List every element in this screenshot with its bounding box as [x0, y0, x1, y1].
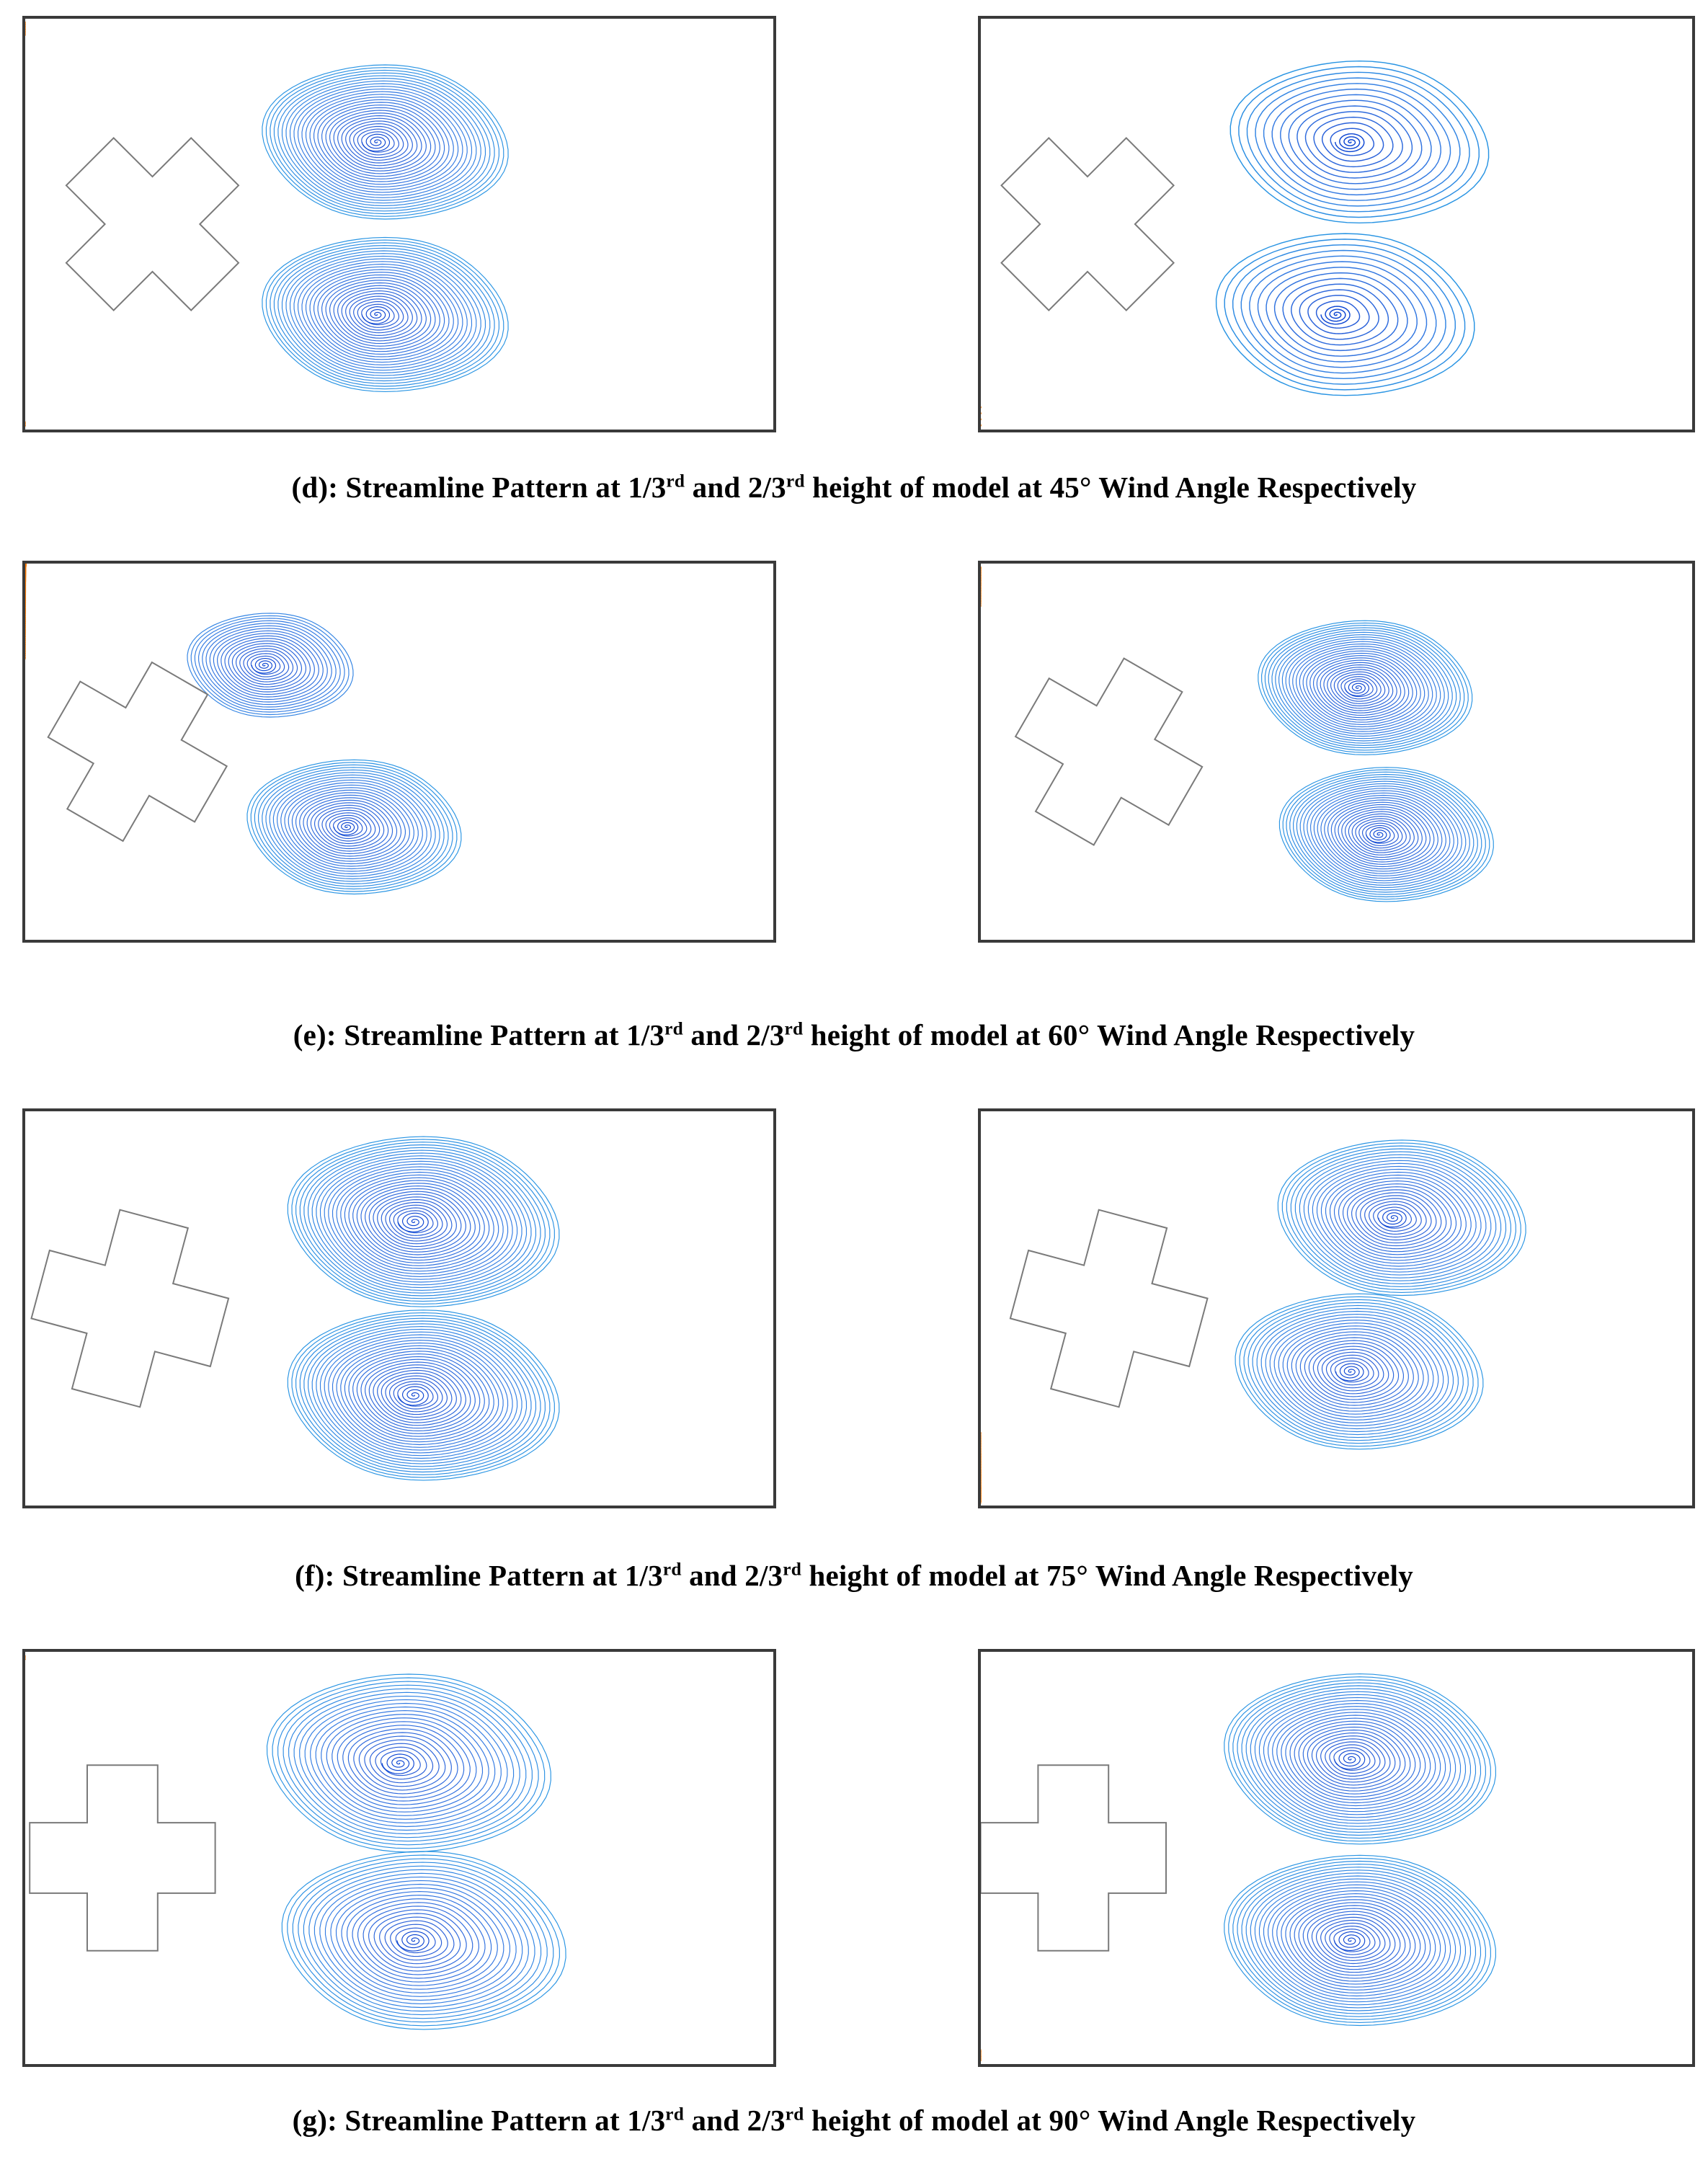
recirculation-loop [1273, 1887, 1441, 1993]
caption-f-label: (f) [295, 1559, 325, 1592]
streamline [25, 1652, 26, 1658]
recirculation-loop [1266, 267, 1417, 362]
recirculation-loop [1317, 793, 1450, 876]
vortex-core-spiral [252, 659, 275, 673]
building-cross-section [30, 1765, 215, 1950]
panel-e-right [978, 561, 1695, 943]
recirculation-loop [1299, 1724, 1410, 1794]
caption-f-mid: and 2/3 [682, 1559, 783, 1592]
vortex-core-spiral [1335, 1751, 1365, 1769]
vortex-core-spiral [1335, 134, 1364, 152]
caption-g-sup1: rd [665, 2104, 684, 2124]
recirculation-loop [1338, 674, 1381, 701]
recirculation-loop [281, 783, 423, 871]
recirculation-loop [321, 1711, 489, 1816]
vortex-core-spiral [397, 1931, 429, 1951]
caption-g-text: Streamline Pattern at 1/3 [344, 2104, 665, 2137]
recirculation-loop [365, 1188, 471, 1255]
recirculation-loop [1356, 1193, 1436, 1243]
building-cross-section [1002, 138, 1174, 310]
recirculation-loop [369, 1910, 466, 1971]
vortex-core-spiral [1321, 306, 1350, 324]
recirculation-loop [346, 121, 413, 163]
recirculation-loop [232, 644, 301, 687]
recirculation-loop [381, 1200, 452, 1244]
recirculation-loop [357, 1183, 479, 1260]
recirculation-loop [390, 1205, 442, 1238]
recirculation-loop [1317, 1917, 1390, 1963]
panel-g-left [22, 1649, 776, 2067]
recirculation-loop [1317, 1166, 1482, 1269]
recirculation-loop [1317, 660, 1405, 715]
recirculation-loop [357, 1356, 479, 1433]
building-cross-section [1015, 659, 1202, 845]
recirculation-loop [330, 110, 431, 174]
recirculation-loop [342, 291, 417, 339]
caption-d-tail: height of model at 45° Wind Angle Respec… [805, 471, 1417, 504]
recirculation-loop [331, 1885, 510, 1997]
caption-f-text: Streamline Pattern at 1/3 [342, 1559, 663, 1592]
vortex-core-spiral [362, 307, 389, 324]
panel-g-right [978, 1649, 1695, 2067]
streamline-group [288, 1137, 559, 1480]
streamline-group [25, 19, 508, 430]
vortex-core-spiral [398, 1387, 428, 1405]
caption-e-mid: and 2/3 [683, 1018, 785, 1051]
panel-f-left [22, 1108, 776, 1508]
streamline-canvas [25, 19, 773, 430]
recirculation-loop [306, 94, 458, 190]
building-cross-section [48, 662, 227, 841]
recirculation-loop [326, 813, 371, 841]
recirculation-loop [244, 651, 289, 679]
recirculation-loop [1314, 117, 1393, 167]
streamline-canvas [981, 1111, 1692, 1506]
recirculation-loop [391, 1924, 442, 1956]
recirculation-loop [1283, 1326, 1428, 1418]
recirculation-loop [1348, 814, 1414, 855]
caption-g-label: (g) [293, 2104, 327, 2137]
building-cross-section [66, 138, 239, 310]
recirculation-loop [1313, 1346, 1393, 1397]
streamline-canvas [981, 564, 1692, 940]
streamline-canvas [25, 1652, 773, 2064]
building-cross-section [32, 1210, 229, 1408]
streamline [981, 2060, 982, 2064]
vortex-core-spiral [1345, 681, 1369, 695]
caption-e-tail: height of model at 60° Wind Angle Respec… [803, 1018, 1415, 1051]
recirculation-loop [365, 1362, 471, 1428]
recirculation-loop [1312, 1733, 1395, 1785]
recirculation-loop [221, 636, 315, 694]
recirculation-loop [1348, 1187, 1446, 1249]
vortex-core-spiral [1379, 1210, 1406, 1227]
streamline [981, 424, 982, 430]
caption-d-mid: and 2/3 [685, 471, 786, 504]
caption-g-tail: height of model at 90° Wind Angle Respec… [804, 2104, 1416, 2137]
caption-g-mid: and 2/3 [684, 2104, 786, 2137]
recirculation-loop [1241, 251, 1446, 379]
recirculation-loop [1300, 1338, 1408, 1405]
recirculation-loop [381, 1373, 452, 1417]
recirculation-loop [1299, 1906, 1410, 1975]
vortex-core-spiral [1335, 1932, 1365, 1951]
caption-e-sup1: rd [664, 1018, 683, 1039]
recirculation-loop [1325, 1742, 1380, 1777]
streamline-canvas [25, 564, 773, 940]
recirculation-loop [1317, 1736, 1390, 1782]
recirculation-loop [378, 1197, 457, 1247]
recirculation-loop [1291, 284, 1389, 344]
recirculation-loop [315, 805, 384, 848]
caption-d-label: (d) [292, 471, 329, 504]
recirculation-loop [1325, 1924, 1380, 1958]
streamline [25, 19, 26, 23]
recirculation-loop [1250, 256, 1436, 373]
caption-e: (e): Streamline Pattern at 1/3rd and 2/3… [0, 1018, 1708, 1052]
streamline [981, 1501, 982, 1506]
recirculation-loop [1369, 1201, 1422, 1234]
recirculation-loop [1268, 1885, 1446, 1996]
figure-sheet: (d): Streamline Pattern at 1/3rd and 2/3… [0, 0, 1708, 2170]
vortex-core-spiral [382, 1754, 414, 1774]
recirculation-loop [1233, 245, 1456, 384]
streamline-canvas [25, 1111, 773, 1506]
recirculation-loop [1255, 78, 1460, 206]
streamline [25, 425, 26, 430]
recirculation-loop [1306, 112, 1403, 172]
vortex-core-spiral [1336, 1364, 1364, 1381]
caption-e-text: Streamline Pattern at 1/3 [344, 1018, 664, 1051]
recirculation-loop [1312, 1914, 1395, 1966]
recirculation-loop [385, 1921, 448, 1960]
recirculation-loop [1281, 94, 1431, 189]
recirculation-loop [1264, 84, 1451, 200]
recirculation-loop [378, 1370, 457, 1420]
recirculation-loop [1326, 1173, 1472, 1263]
recirculation-loop [316, 1707, 495, 1820]
caption-d-sup1: rd [666, 471, 685, 491]
vortex-core-spiral [362, 134, 389, 151]
building-cross-section [981, 1765, 1166, 1950]
caption-f-tail: height of model at 75° Wind Angle Respec… [801, 1559, 1413, 1592]
vortex-core-spiral [1366, 828, 1390, 842]
recirculation-loop [305, 1699, 507, 1826]
panel-d-left [22, 16, 776, 432]
recirculation-loop [1268, 1704, 1446, 1815]
streamline [25, 1652, 26, 1657]
recirculation-loop [375, 1747, 427, 1779]
recirculation-loop [1338, 807, 1426, 862]
recirculation-loop [330, 283, 431, 347]
recirculation-loop [1327, 667, 1393, 708]
recirculation-loop [354, 299, 404, 330]
caption-d-text: Streamline Pattern at 1/3 [346, 471, 667, 504]
recirculation-loop [1247, 72, 1470, 211]
recirculation-loop [303, 798, 397, 856]
recirculation-loop [1352, 817, 1410, 853]
recirculation-loop [1343, 1184, 1451, 1252]
recirculation-loop [1327, 1355, 1379, 1387]
recirculation-loop [390, 1379, 442, 1412]
streamline [981, 406, 982, 413]
recirculation-loop [1331, 670, 1389, 706]
recirculation-loop [306, 267, 458, 362]
recirculation-loop [1359, 821, 1402, 848]
caption-f-sup2: rd [783, 1559, 801, 1579]
streamline-canvas [981, 1652, 1692, 2064]
recirculation-loop [1299, 290, 1379, 339]
vortex-core-spiral [398, 1213, 428, 1232]
vortex-core-spiral [334, 820, 358, 835]
recirculation-loop [342, 118, 417, 166]
caption-d-sup2: rd [786, 471, 805, 491]
recirculation-loop [1296, 646, 1429, 729]
caption-f: (f): Streamline Pattern at 1/3rd and 2/3… [0, 1558, 1708, 1593]
streamline-canvas [981, 19, 1692, 430]
panel-f-right [978, 1108, 1695, 1508]
recirculation-loop [199, 621, 341, 709]
panel-d-right [978, 16, 1695, 432]
caption-g-sup2: rd [786, 2104, 804, 2124]
recirculation-loop [1273, 1707, 1441, 1812]
recirculation-loop [1274, 1320, 1438, 1423]
caption-f-sup1: rd [663, 1559, 682, 1579]
building-cross-section [1010, 1210, 1208, 1408]
recirculation-loop [320, 1877, 522, 2004]
recirculation-loop [354, 126, 404, 157]
caption-d: (d): Streamline Pattern at 1/3rd and 2/3… [0, 470, 1708, 504]
caption-e-label: (e) [293, 1018, 326, 1051]
caption-g: (g): Streamline Pattern at 1/3rd and 2/3… [0, 2103, 1708, 2138]
recirculation-loop [346, 293, 413, 335]
panel-e-left [22, 561, 776, 943]
recirculation-loop [370, 1743, 432, 1783]
recirculation-loop [1304, 1340, 1403, 1402]
caption-e-sup2: rd [785, 1018, 804, 1039]
recirculation-loop [354, 1733, 451, 1794]
